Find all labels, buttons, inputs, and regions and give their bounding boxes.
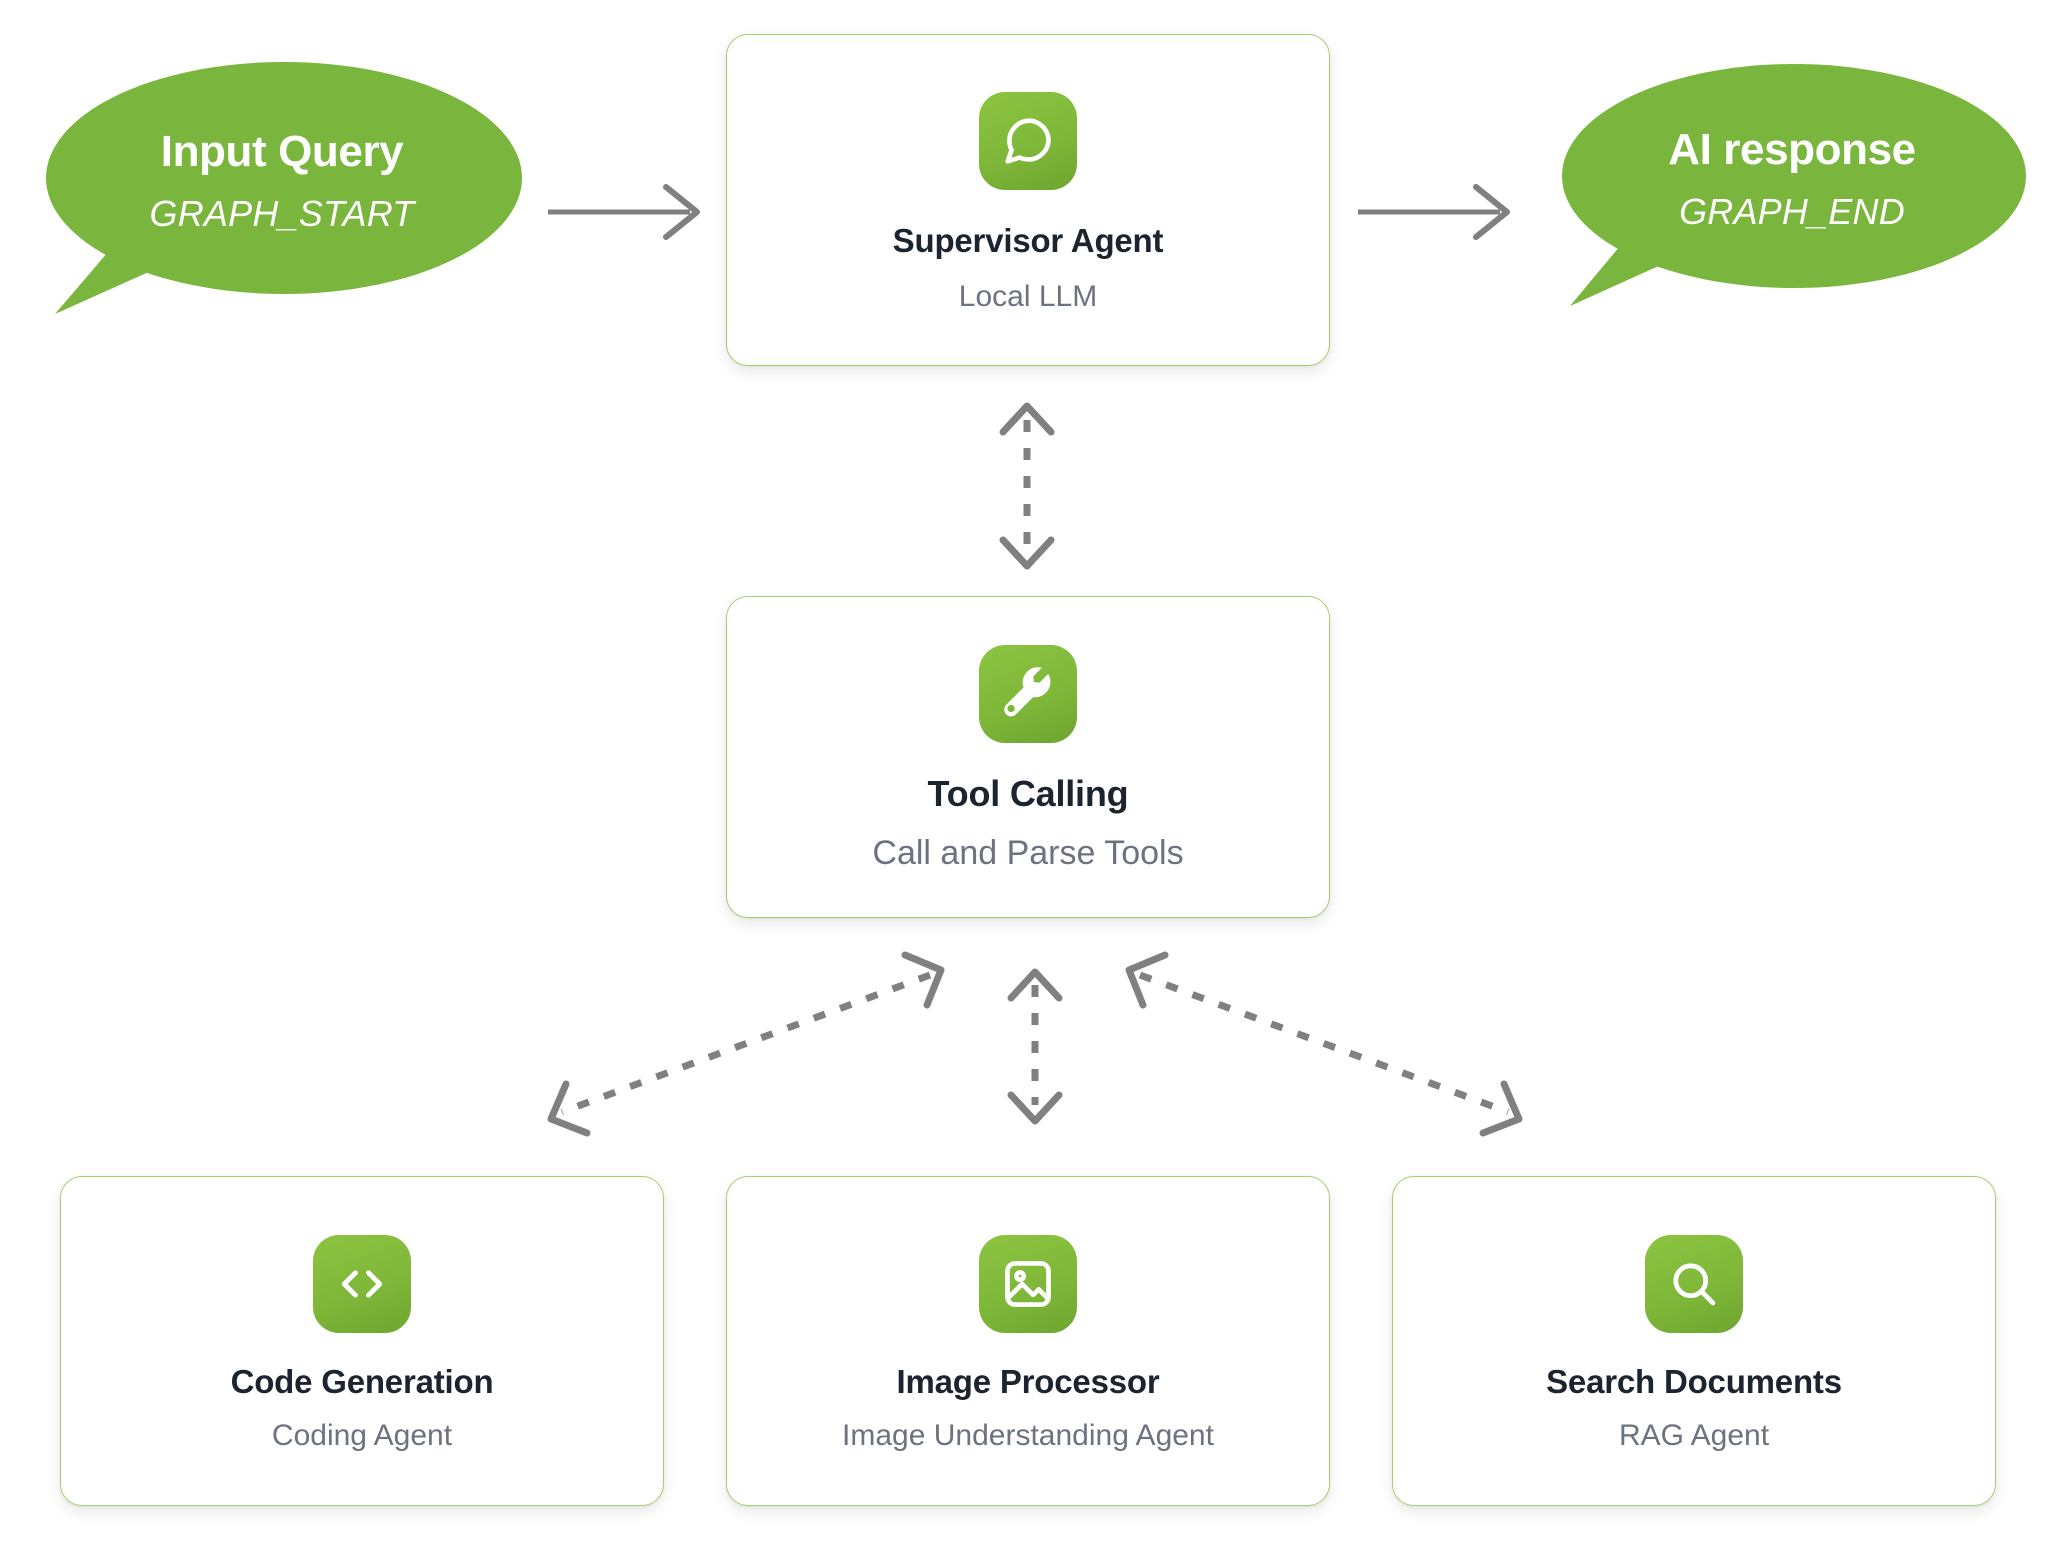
input-query-subtitle: GRAPH_START xyxy=(42,194,522,234)
edge-tool-to-search xyxy=(1129,955,1519,1133)
edge-supervisor-to-tool xyxy=(1003,406,1051,566)
supervisor-subtitle: Local LLM xyxy=(959,280,1097,315)
node-supervisor-agent[interactable]: Supervisor Agent Local LLM xyxy=(726,34,1330,366)
code-generation-subtitle: Coding Agent xyxy=(272,1419,452,1454)
supervisor-title: Supervisor Agent xyxy=(893,222,1164,260)
node-ai-response[interactable]: AI response GRAPH_END xyxy=(1558,62,2026,312)
input-query-text: Input Query GRAPH_START xyxy=(42,128,522,254)
node-tool-calling[interactable]: Tool Calling Call and Parse Tools xyxy=(726,596,1330,918)
ai-response-text: AI response GRAPH_END xyxy=(1558,126,2026,248)
image-processor-title: Image Processor xyxy=(897,1363,1160,1401)
tool-calling-title: Tool Calling xyxy=(928,773,1129,814)
edge-tool-to-code xyxy=(551,955,941,1133)
edge-tool-to-image xyxy=(1011,972,1059,1121)
node-search-documents[interactable]: Search Documents RAG Agent xyxy=(1392,1176,1996,1506)
ai-response-title: AI response xyxy=(1558,126,2026,174)
magnifier-icon xyxy=(1645,1235,1743,1333)
ai-response-subtitle: GRAPH_END xyxy=(1558,192,2026,232)
tool-calling-subtitle: Call and Parse Tools xyxy=(872,834,1183,873)
edge-start-to-supervisor xyxy=(548,187,697,237)
code-brackets-icon xyxy=(313,1235,411,1333)
node-image-processor[interactable]: Image Processor Image Understanding Agen… xyxy=(726,1176,1330,1506)
input-query-title: Input Query xyxy=(42,128,522,176)
edge-supervisor-to-response xyxy=(1358,187,1507,237)
diagram-canvas: Input Query GRAPH_START Supervisor Agent… xyxy=(0,0,2070,1546)
node-code-generation[interactable]: Code Generation Coding Agent xyxy=(60,1176,664,1506)
node-input-query[interactable]: Input Query GRAPH_START xyxy=(42,60,522,322)
code-generation-title: Code Generation xyxy=(231,1363,494,1401)
image-icon xyxy=(979,1235,1077,1333)
image-processor-subtitle: Image Understanding Agent xyxy=(842,1419,1214,1454)
search-documents-subtitle: RAG Agent xyxy=(1619,1419,1769,1454)
chat-bubble-icon xyxy=(979,92,1077,190)
search-documents-title: Search Documents xyxy=(1546,1363,1842,1401)
wrench-icon xyxy=(979,645,1077,743)
